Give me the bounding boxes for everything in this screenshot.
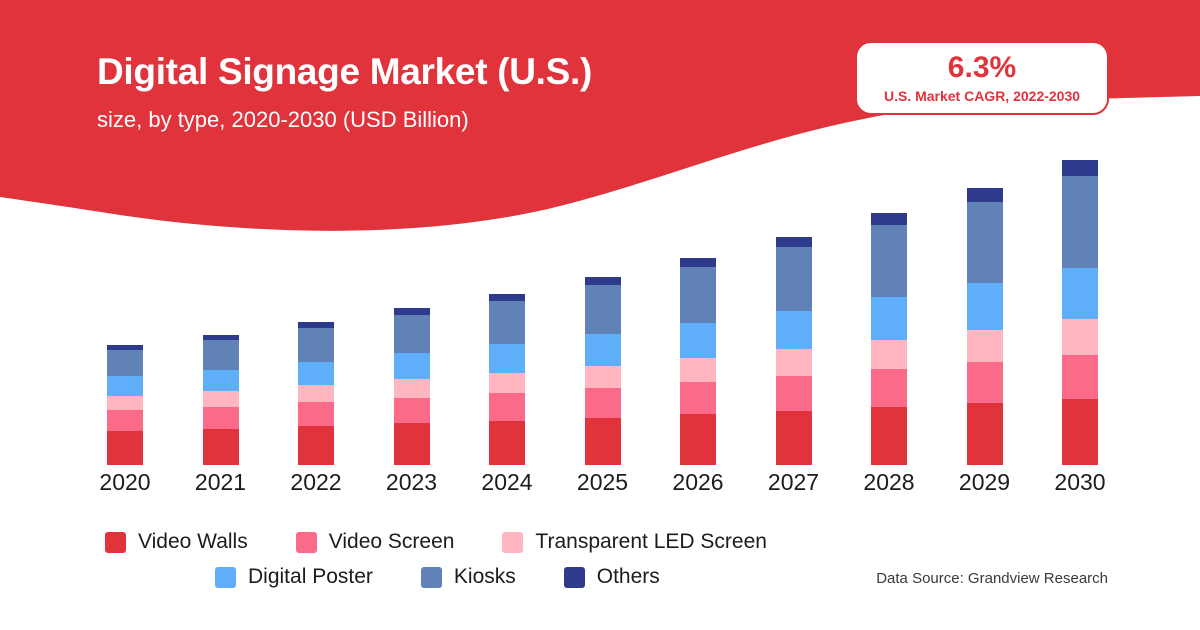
legend-swatch-others (564, 567, 585, 588)
bar-segment-kiosks (489, 301, 525, 344)
bar-stack-2028[interactable] (871, 213, 907, 465)
bar-segment-digital-poster (203, 370, 239, 392)
bar-segment-video-walls (871, 407, 907, 465)
bar-segment-video-walls (1062, 399, 1098, 465)
bar-segment-transparent-led-screen (680, 358, 716, 383)
bar-segment-kiosks (203, 340, 239, 370)
bar-segment-digital-poster (107, 376, 143, 396)
legend-swatch-digital-poster (215, 567, 236, 588)
bar-segment-others (680, 258, 716, 268)
x-axis-label-2023: 2023 (372, 469, 452, 496)
bar-segment-transparent-led-screen (489, 373, 525, 393)
legend-item-others[interactable]: Others (564, 565, 660, 589)
bar-stack-2030[interactable] (1062, 160, 1098, 465)
bar-segment-video-walls (680, 414, 716, 465)
bar-segment-digital-poster (680, 323, 716, 358)
bar-segment-video-walls (585, 418, 621, 465)
bar-segment-kiosks (394, 315, 430, 353)
bar-stack-2025[interactable] (585, 277, 621, 466)
legend-item-transparent-led-screen[interactable]: Transparent LED Screen (502, 530, 767, 554)
bar-segment-video-screen (967, 362, 1003, 403)
bar-stack-2029[interactable] (967, 188, 1003, 465)
bar-segment-others (1062, 160, 1098, 176)
bar-stack-2026[interactable] (680, 258, 716, 465)
bar-segment-kiosks (967, 202, 1003, 283)
x-axis-label-2029: 2029 (945, 469, 1025, 496)
cagr-value: 6.3% (948, 53, 1016, 83)
bar-segment-transparent-led-screen (107, 396, 143, 410)
bar-segment-video-screen (394, 398, 430, 424)
bar-segment-transparent-led-screen (394, 379, 430, 397)
bar-segment-video-walls (298, 426, 334, 465)
bar-segment-others (776, 237, 812, 248)
page-subtitle: size, by type, 2020-2030 (USD Billion) (97, 107, 592, 133)
x-axis-label-2020: 2020 (85, 469, 165, 496)
bar-stack-2021[interactable] (203, 335, 239, 465)
legend-item-kiosks[interactable]: Kiosks (421, 565, 516, 589)
bar-segment-video-screen (585, 388, 621, 418)
legend-swatch-video-screen (296, 532, 317, 553)
bar-stack-2023[interactable] (394, 308, 430, 465)
bar-stack-2027[interactable] (776, 237, 812, 465)
bar-segment-video-walls (107, 431, 143, 465)
bar-segment-kiosks (680, 267, 716, 323)
bar-segment-kiosks (107, 350, 143, 376)
bar-segment-video-screen (298, 402, 334, 426)
bar-group-2026 (680, 0, 716, 470)
bar-segment-kiosks (871, 225, 907, 297)
x-axis: 2020202120222023202420252026202720282029… (0, 469, 1200, 503)
bar-segment-transparent-led-screen (203, 391, 239, 407)
bar-segment-transparent-led-screen (585, 366, 621, 388)
bar-segment-transparent-led-screen (967, 330, 1003, 363)
bar-segment-digital-poster (489, 344, 525, 373)
cagr-badge: 6.3% U.S. Market CAGR, 2022-2030 (855, 41, 1109, 115)
bar-segment-transparent-led-screen (871, 340, 907, 370)
x-axis-label-2030: 2030 (1040, 469, 1120, 496)
legend-label: Video Walls (138, 530, 248, 554)
bar-segment-digital-poster (394, 353, 430, 379)
bar-segment-video-walls (394, 423, 430, 465)
bar-segment-others (585, 277, 621, 285)
legend-swatch-kiosks (421, 567, 442, 588)
bar-segment-video-screen (107, 410, 143, 431)
x-axis-label-2022: 2022 (276, 469, 356, 496)
legend-label: Kiosks (454, 565, 516, 589)
legend-label: Video Screen (329, 530, 455, 554)
bar-segment-transparent-led-screen (298, 385, 334, 402)
bar-segment-others (394, 308, 430, 315)
page-title: Digital Signage Market (U.S.) (97, 52, 592, 93)
bar-segment-kiosks (776, 247, 812, 310)
x-axis-label-2024: 2024 (467, 469, 547, 496)
bar-segment-digital-poster (967, 283, 1003, 330)
bar-segment-others (489, 294, 525, 302)
legend-label: Digital Poster (248, 565, 373, 589)
bar-segment-digital-poster (871, 297, 907, 339)
bar-segment-video-walls (203, 429, 239, 465)
x-axis-label-2025: 2025 (563, 469, 643, 496)
bar-stack-2024[interactable] (489, 294, 525, 465)
bar-group-2027 (776, 0, 812, 470)
bar-segment-video-screen (489, 393, 525, 420)
bar-segment-transparent-led-screen (1062, 319, 1098, 355)
bar-segment-digital-poster (776, 311, 812, 349)
bar-segment-transparent-led-screen (776, 349, 812, 376)
x-axis-label-2021: 2021 (181, 469, 261, 496)
bar-segment-kiosks (585, 285, 621, 334)
bar-segment-video-screen (1062, 355, 1098, 399)
legend-swatch-video-walls (105, 532, 126, 553)
bar-segment-video-walls (776, 411, 812, 465)
bar-stack-2020[interactable] (107, 345, 143, 465)
title-block: Digital Signage Market (U.S.) size, by t… (97, 52, 592, 133)
bar-segment-digital-poster (585, 334, 621, 365)
legend-label: Others (597, 565, 660, 589)
x-axis-label-2026: 2026 (658, 469, 738, 496)
bar-segment-video-screen (776, 376, 812, 411)
legend-item-video-walls[interactable]: Video Walls (105, 530, 248, 554)
bar-segment-digital-poster (1062, 268, 1098, 320)
legend-item-digital-poster[interactable]: Digital Poster (215, 565, 373, 589)
data-source-note: Data Source: Grandview Research (876, 570, 1108, 587)
bar-segment-kiosks (1062, 176, 1098, 268)
bar-segment-digital-poster (298, 362, 334, 386)
cagr-label: U.S. Market CAGR, 2022-2030 (884, 88, 1080, 104)
legend-label: Transparent LED Screen (535, 530, 767, 554)
bar-segment-video-screen (680, 382, 716, 414)
bar-segment-others (967, 188, 1003, 202)
bar-segment-others (871, 213, 907, 225)
bar-segment-video-walls (489, 421, 525, 465)
legend-row-1: Video WallsVideo ScreenTransparent LED S… (0, 530, 1200, 554)
bar-segment-video-walls (967, 403, 1003, 465)
legend-item-video-screen[interactable]: Video Screen (296, 530, 455, 554)
bar-stack-2022[interactable] (298, 322, 334, 465)
bar-segment-kiosks (298, 328, 334, 362)
bar-segment-video-screen (871, 369, 907, 406)
legend-swatch-transparent-led-screen (502, 532, 523, 553)
x-axis-label-2028: 2028 (849, 469, 929, 496)
x-axis-label-2027: 2027 (754, 469, 834, 496)
bar-segment-video-screen (203, 407, 239, 429)
